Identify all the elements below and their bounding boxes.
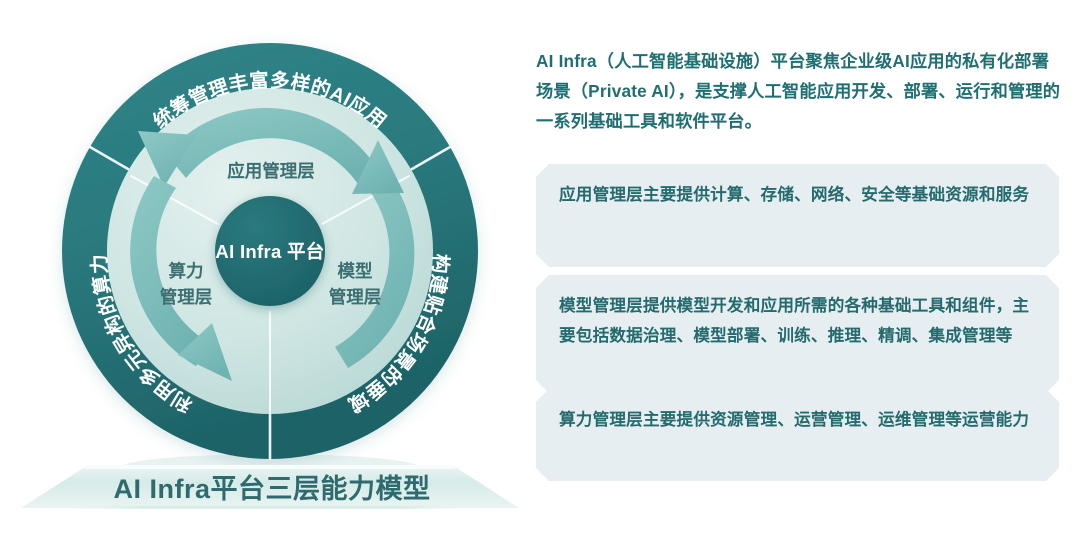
layer-label-model-line1: 模型 xyxy=(338,261,373,281)
layer-label-application: 应用管理层 xyxy=(227,161,315,181)
three-layer-capability-diagram: AI Infra 平台 统筹管理丰富多样的AI应用 高效利用多元异构的算力资源 … xyxy=(0,0,520,551)
intro-paragraph: AI Infra（人工智能基础设施）平台聚焦企业级AI应用的私有化部署场景（Pr… xyxy=(536,46,1064,136)
layer-label-model-line2: 管理层 xyxy=(329,287,382,307)
core-label: AI Infra 平台 xyxy=(215,241,324,262)
platform-banner-title: AI Infra平台三层能力模型 xyxy=(113,473,430,504)
infographic-root: AI Infra 平台 统筹管理丰富多样的AI应用 高效利用多元异构的算力资源 … xyxy=(0,0,1080,551)
layer-label-compute-line2: 管理层 xyxy=(160,287,213,307)
description-column: AI Infra（人工智能基础设施）平台聚焦企业级AI应用的私有化部署场景（Pr… xyxy=(519,0,1080,551)
layer-label-compute-line1: 算力 xyxy=(168,261,204,281)
info-card-model-layer: 模型管理层提供模型开发和应用所需的各种基础工具和组件，主要包括数据治理、模型部署… xyxy=(536,275,1059,393)
info-card-application-layer: 应用管理层主要提供计算、存储、网络、安全等基础资源和服务 xyxy=(536,164,1059,267)
info-card-compute-layer: 算力管理层主要提供资源管理、运营管理、运维管理等运营能力 xyxy=(536,389,1059,481)
